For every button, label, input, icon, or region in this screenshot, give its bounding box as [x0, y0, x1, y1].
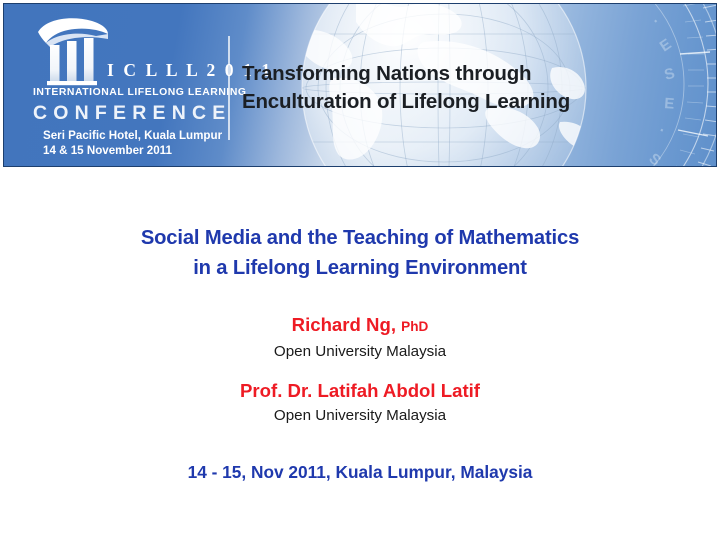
logo-venue: Seri Pacific Hotel, Kuala Lumpur	[43, 128, 222, 143]
svg-text:E: E	[657, 36, 675, 56]
presentation-title: Social Media and the Teaching of Mathema…	[40, 223, 680, 283]
author-name-2-text: Prof. Dr. Latifah Abdol Latif	[240, 380, 480, 401]
title-line-2: in a Lifelong Learning Environment	[40, 253, 680, 283]
author-affiliation-2: Open University Malaysia	[40, 405, 680, 427]
iclll-pavilion-logo-icon	[36, 18, 110, 86]
title-line-1: Social Media and the Teaching of Mathema…	[40, 223, 680, 253]
conference-theme: Transforming Nations through Enculturati…	[242, 60, 662, 116]
svg-text:·: ·	[657, 122, 668, 140]
event-date-location: 14 - 15, Nov 2011, Kuala Lumpur, Malaysi…	[40, 462, 680, 483]
author-name-1-text: Richard Ng,	[292, 314, 396, 335]
author-affiliation-1: Open University Malaysia	[40, 341, 680, 363]
banner-divider	[228, 36, 230, 140]
author-name-2: Prof. Dr. Latifah Abdol Latif	[40, 379, 680, 403]
svg-text:·: ·	[648, 14, 664, 29]
author-block-2: Prof. Dr. Latifah Abdol Latif Open Unive…	[40, 379, 680, 427]
author-name-1: Richard Ng, PhD	[40, 313, 680, 339]
slide-body: Social Media and the Teaching of Mathema…	[0, 167, 720, 540]
logo-conference-word: CONFERENCE	[33, 102, 225, 125]
theme-line-1: Transforming Nations through	[242, 60, 662, 88]
conference-banner: D · E S E · S E	[3, 3, 717, 167]
logo-dates: 14 & 15 November 2011	[43, 143, 172, 158]
author-degree-1: PhD	[401, 319, 428, 334]
svg-text:E: E	[664, 95, 675, 113]
logo-subtitle: INTERNATIONAL LIFELONG LEARNING	[33, 87, 225, 98]
svg-text:S: S	[645, 150, 664, 167]
theme-line-2: Enculturation of Lifelong Learning	[242, 88, 662, 116]
svg-text:S: S	[662, 65, 676, 84]
iclll-logo-block: I C L L L 2 0 1 1 INTERNATIONAL LIFELONG…	[31, 14, 226, 164]
presentation-slide: D · E S E · S E	[0, 0, 720, 540]
author-block-1: Richard Ng, PhD Open University Malaysia	[40, 313, 680, 363]
